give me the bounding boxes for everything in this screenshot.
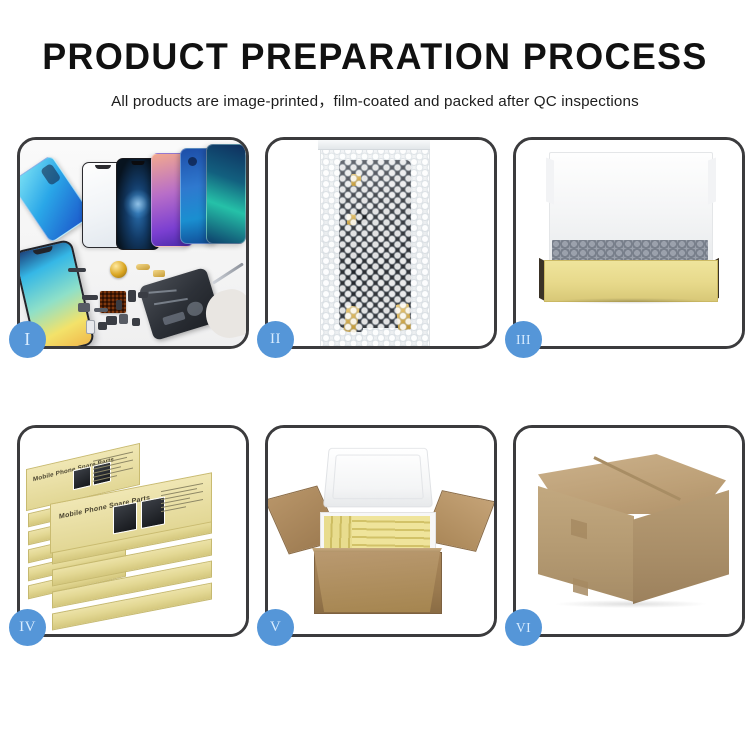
yellow-box-body [544, 260, 718, 302]
step-badge-6: VI [505, 609, 542, 646]
phone-teal [206, 144, 246, 244]
spare-part [132, 318, 140, 326]
spare-part [106, 316, 117, 325]
step-4-image: Mobile Phone Spare Parts Mobile Phone Sp… [20, 428, 246, 634]
process-step-5[interactable]: V [265, 425, 497, 637]
carton-front-face [314, 552, 440, 612]
process-step-1[interactable]: I [17, 137, 249, 349]
spare-part [98, 322, 107, 330]
spare-part [138, 292, 148, 298]
spare-part [94, 308, 108, 312]
process-step-4[interactable]: Mobile Phone Spare Parts Mobile Phone Sp… [17, 425, 249, 637]
page-header: PRODUCT PREPARATION PROCESS All products… [0, 0, 750, 111]
step-badge-1: I [9, 321, 46, 358]
step-badge-2: II [257, 321, 294, 358]
spare-part [116, 300, 122, 310]
page-subtitle: All products are image-printed，film-coat… [0, 89, 750, 111]
spare-part [82, 295, 98, 300]
box-spec-lines [93, 451, 133, 486]
vibration-motor-part [110, 261, 127, 278]
spare-part [128, 290, 136, 302]
spare-part [78, 303, 90, 312]
process-step-2[interactable]: II [265, 137, 497, 349]
step-badge-3: III [505, 321, 542, 358]
yellow-boxes-inside [324, 516, 430, 552]
spare-part [153, 270, 165, 277]
process-step-grid: I II III [0, 137, 750, 637]
bag-seal [318, 140, 430, 150]
process-step-3[interactable]: III [513, 137, 745, 349]
box-shadow [556, 298, 706, 304]
spare-part [68, 268, 86, 272]
spare-part [136, 264, 150, 270]
spare-part [86, 320, 95, 334]
box-spec-lines [161, 483, 203, 523]
step-3-image [516, 140, 742, 346]
bubble-texture [321, 146, 429, 346]
carton-shadow [556, 600, 706, 608]
bubble-wrap-bag [320, 146, 430, 346]
step-6-image [516, 428, 742, 634]
step-1-image [20, 140, 246, 346]
process-step-6[interactable]: VI [513, 425, 745, 637]
box-window [73, 466, 91, 490]
page-title: PRODUCT PREPARATION PROCESS [11, 38, 739, 75]
step-badge-4: IV [9, 609, 46, 646]
box-stack: Mobile Phone Spare Parts Mobile Phone Sp… [20, 428, 246, 634]
carton-tape-patch [573, 578, 588, 596]
white-foam-lid [323, 448, 433, 508]
step-2-image [268, 140, 494, 346]
tweezer-tool [212, 262, 244, 284]
box-window [113, 502, 137, 535]
step-5-image [268, 428, 494, 634]
step-badge-5: V [257, 609, 294, 646]
spare-part [119, 314, 128, 324]
